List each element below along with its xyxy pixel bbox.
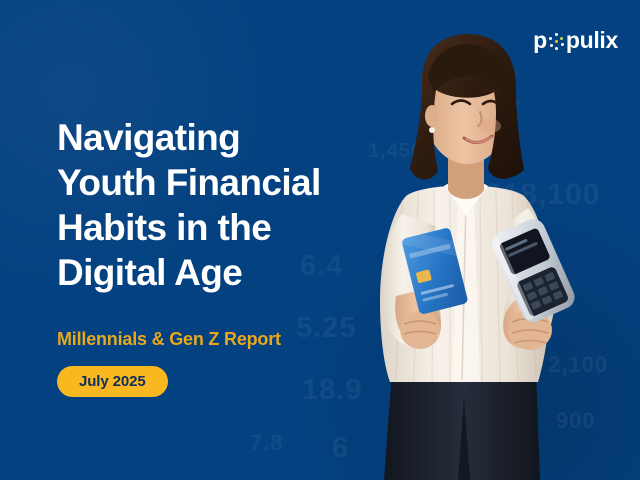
headline-line-2: Youth Financial [57,160,387,205]
page-title: Navigating Youth Financial Habits in the… [57,115,387,295]
date-badge[interactable]: July 2025 [57,366,168,397]
headline-line-3: Habits in the [57,205,387,250]
report-cover-slide: 3,318,1006.45.2518.962,10090012.71,4507.… [0,0,640,480]
report-subtitle: Millennials & Gen Z Report [57,329,281,350]
background-number: 7.8 [250,430,284,456]
headline-line-4: Digital Age [57,250,387,295]
headline-line-1: Navigating [57,115,387,160]
